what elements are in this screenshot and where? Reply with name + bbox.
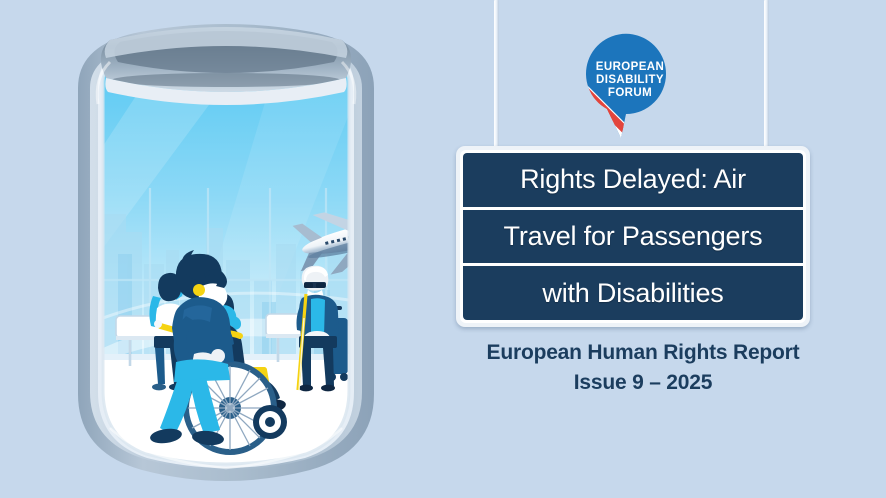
title-line-1: Rights Delayed: Air xyxy=(520,166,746,193)
european-disability-forum-logo: EUROPEAN DISABILITY FORUM xyxy=(578,30,674,142)
sign-pole-left xyxy=(494,0,499,156)
subtitle-line-2: Issue 9 – 2025 xyxy=(440,368,846,398)
airplane-window-illustration xyxy=(58,18,394,488)
cover-page: EUROPEAN DISABILITY FORUM Rights Delayed… xyxy=(0,0,886,498)
sign-inner-frame: Rights Delayed: Air Travel for Passenger… xyxy=(460,150,806,323)
title-line-2: Travel for Passengers xyxy=(504,223,763,250)
sign-pole-right xyxy=(764,0,769,156)
title-sign-board: Rights Delayed: Air Travel for Passenger… xyxy=(456,146,810,327)
sign-row-3: with Disabilities xyxy=(463,266,803,320)
logo-line-3: FORUM xyxy=(608,87,652,99)
window-shade xyxy=(101,27,351,105)
logo-line-1: EUROPEAN xyxy=(596,61,664,73)
sign-row-1: Rights Delayed: Air xyxy=(463,153,803,207)
title-line-3: with Disabilities xyxy=(542,280,723,307)
subtitle-line-1: European Human Rights Report xyxy=(440,338,846,368)
report-subtitle: European Human Rights Report Issue 9 – 2… xyxy=(440,338,846,398)
wheelchair-caster-wheel xyxy=(253,405,287,439)
assistant-earpiece xyxy=(193,284,205,296)
sign-row-2: Travel for Passengers xyxy=(463,210,803,264)
logo-line-2: DISABILITY xyxy=(596,74,664,86)
